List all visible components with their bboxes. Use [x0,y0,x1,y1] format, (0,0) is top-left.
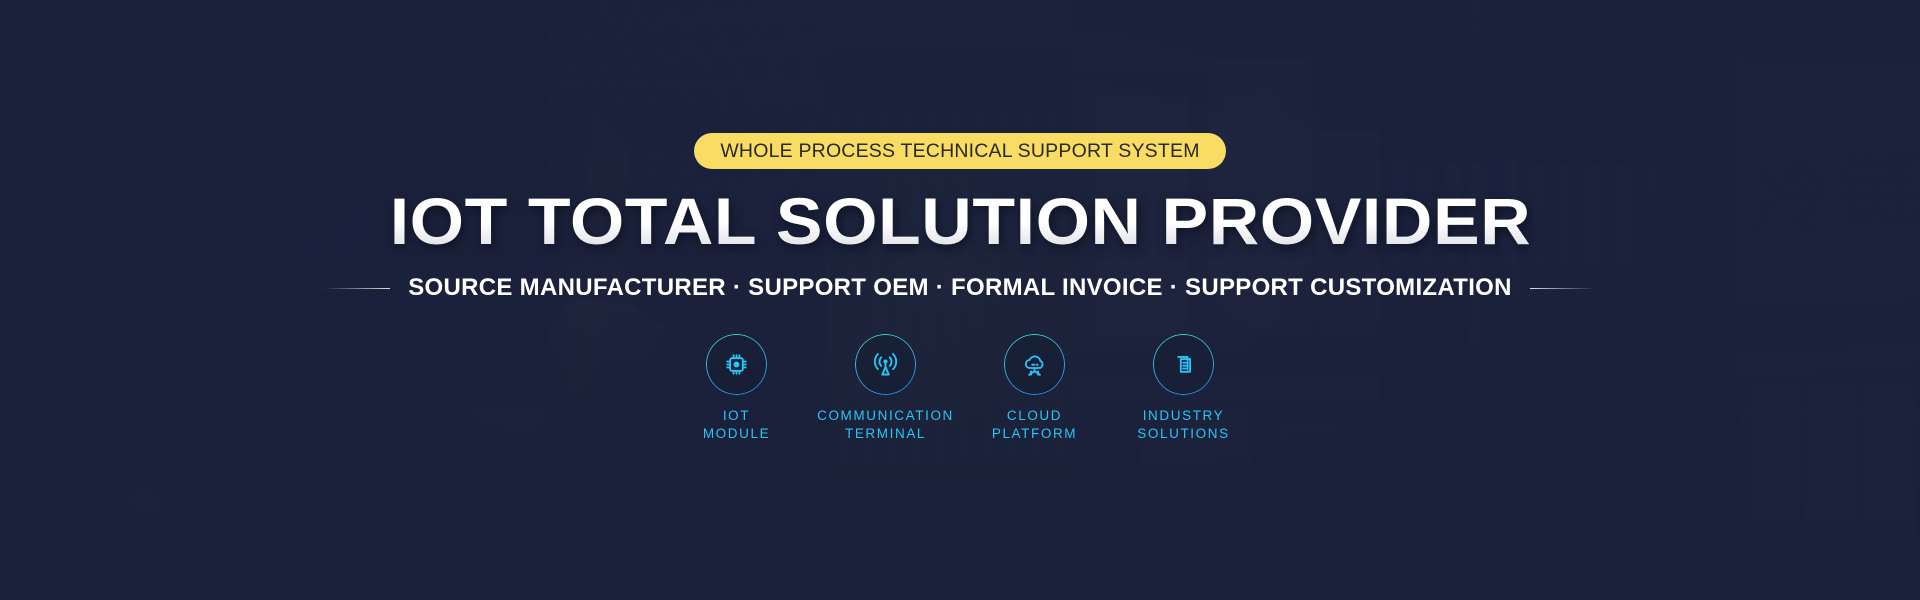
feature-list: IOT MODULE COMMUNICATION TERMINAL [674,334,1246,443]
feature-label: IOT MODULE [703,407,770,443]
subtitle-row: SOURCE MANUFACTURER · SUPPORT OEM · FORM… [324,274,1596,302]
feature-icon-circle [855,334,916,395]
feature-label: COMMUNICATION TERMINAL [817,407,954,443]
cloud-icon [1019,349,1050,380]
feature-icon-circle [706,334,767,395]
document-icon [1168,349,1199,380]
decorative-rule-left [324,288,390,289]
feature-item-industry-solutions[interactable]: INDUSTRY SOLUTIONS [1121,334,1246,443]
decorative-rule-right [1530,288,1596,289]
tagline-badge: WHOLE PROCESS TECHNICAL SUPPORT SYSTEM [694,133,1225,169]
page-title: IOT TOTAL SOLUTION PROVIDER [389,188,1531,254]
feature-icon-circle [1153,334,1214,395]
feature-item-iot-module[interactable]: IOT MODULE [674,334,799,443]
feature-item-communication-terminal[interactable]: COMMUNICATION TERMINAL [823,334,948,443]
hero-banner: 冷链物 WHOLE PROCESS TECHNICAL SUPPORT SYST… [0,0,1920,600]
page-subtitle: SOURCE MANUFACTURER · SUPPORT OEM · FORM… [408,274,1512,302]
chip-icon [721,349,752,380]
feature-label: INDUSTRY SOLUTIONS [1137,407,1229,443]
antenna-icon [870,349,901,380]
feature-icon-circle [1004,334,1065,395]
hero-content: WHOLE PROCESS TECHNICAL SUPPORT SYSTEM I… [0,0,1920,600]
feature-label: CLOUD PLATFORM [992,407,1077,443]
feature-item-cloud-platform[interactable]: CLOUD PLATFORM [972,334,1097,443]
